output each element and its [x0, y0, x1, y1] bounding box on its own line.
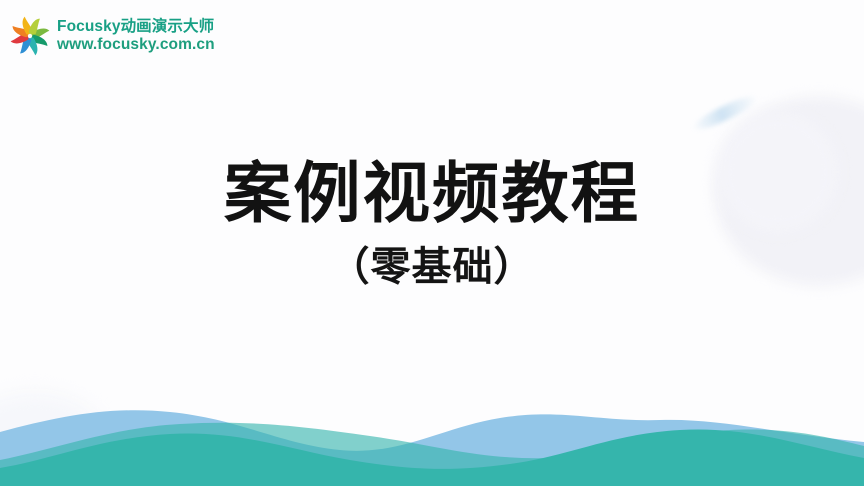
brand-name-label: Focusky动画演示大师 [57, 19, 215, 35]
presentation-slide: Focusky动画演示大师 www.focusky.com.cn 案例视频教程 … [0, 0, 864, 486]
bottom-wave-decoration [0, 376, 864, 486]
brand-url-label[interactable]: www.focusky.com.cn [57, 37, 215, 53]
brand-text-block: Focusky动画演示大师 www.focusky.com.cn [57, 19, 215, 54]
background-wisp-right [690, 91, 759, 134]
slide-subtitle: （零基础） [0, 245, 864, 289]
brand-logo-lockup[interactable]: Focusky动画演示大师 www.focusky.com.cn [8, 14, 215, 58]
slide-title: 案例视频教程 [0, 158, 864, 229]
headline-block: 案例视频教程 （零基础） [0, 158, 864, 289]
focusky-pinwheel-logo-icon [8, 14, 52, 58]
